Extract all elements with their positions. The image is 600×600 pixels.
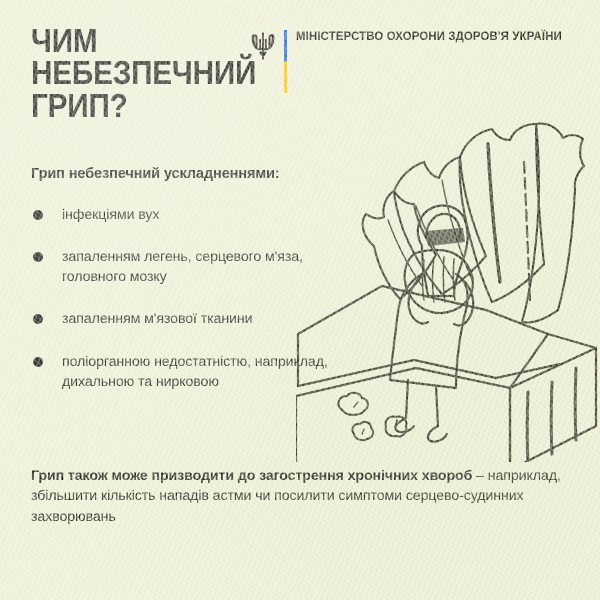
- crumple-detail-2: [362, 429, 364, 434]
- closing-paragraph-bold: Грип також може призводити до загостренн…: [31, 468, 472, 484]
- person-group: [390, 206, 473, 442]
- box-stripe-2: [551, 382, 552, 454]
- list-item-label: запаленням м'язової тканини: [62, 311, 252, 327]
- crumple-detail-1: [354, 402, 358, 407]
- tissue-sheets-group: [363, 124, 584, 323]
- complications-list: інфекціями вух запаленням легень, серцев…: [31, 205, 331, 414]
- person-right-leg: [436, 386, 438, 426]
- box-stripe-1: [527, 392, 528, 462]
- bullet-dot-icon: [33, 314, 43, 324]
- shade-stroke-1: [488, 144, 500, 282]
- person-eye-band: [427, 229, 464, 245]
- list-item-label: поліорганною недостатністю, наприклад, д…: [62, 354, 328, 390]
- illustration-svg: [296, 96, 600, 462]
- finger-2: [433, 258, 435, 302]
- person-right-foot: [428, 426, 447, 442]
- list-item: поліорганною недостатністю, наприклад, д…: [31, 352, 331, 392]
- tissue-sheet-right: [522, 124, 584, 323]
- finger-3: [443, 257, 445, 302]
- ministry-logo: МІНІСТЕРСТВО ОХОРОНИ ЗДОРОВ'Я УКРАЇНИ: [251, 29, 582, 93]
- bullet-dot-icon: [33, 252, 43, 262]
- list-item: інфекціями вух: [31, 205, 331, 225]
- list-item: запаленням м'язової тканини: [31, 309, 331, 329]
- finger-1: [423, 260, 425, 300]
- box-stripe-3: [575, 368, 576, 440]
- infographic-poster: ЧИМ НЕБЕЗПЕЧНИЙ ГРИП? МІНІСТЕРСТВО ОХОРО…: [0, 0, 600, 600]
- box-stripes: [527, 368, 576, 462]
- bullet-dot-icon: [33, 357, 43, 367]
- person-left-leg: [406, 380, 408, 418]
- tissue-shade-strokes: [488, 144, 500, 282]
- crumpled-tissue-1: [338, 393, 368, 415]
- poster-header: ЧИМ НЕБЕЗПЕЧНИЙ ГРИП? МІНІСТЕРСТВО ОХОРО…: [0, 0, 600, 120]
- person-in-tissue-box-illustration: [296, 96, 600, 462]
- bullet-dot-icon: [33, 210, 43, 220]
- list-item-label: інфекціями вух: [62, 207, 159, 223]
- ukrainian-trident-icon: [251, 31, 275, 61]
- finger-4: [453, 259, 455, 300]
- list-item-label: запаленням легень, серцевого м'яза, голо…: [62, 249, 303, 285]
- complications-heading: Грип небезпечний ускладненнями:: [31, 166, 280, 182]
- logo-divider-flag-bar: [284, 30, 287, 93]
- crumpled-tissues-group: [338, 393, 406, 440]
- ministry-logo-text: МІНІСТЕРСТВО ОХОРОНИ ЗДОРОВ'Я УКРАЇНИ: [296, 29, 562, 45]
- list-item: запаленням легень, серцевого м'яза, голо…: [31, 247, 331, 287]
- box-top-right-edge: [510, 334, 596, 388]
- closing-paragraph: Грип також може призводити до загостренн…: [31, 466, 571, 527]
